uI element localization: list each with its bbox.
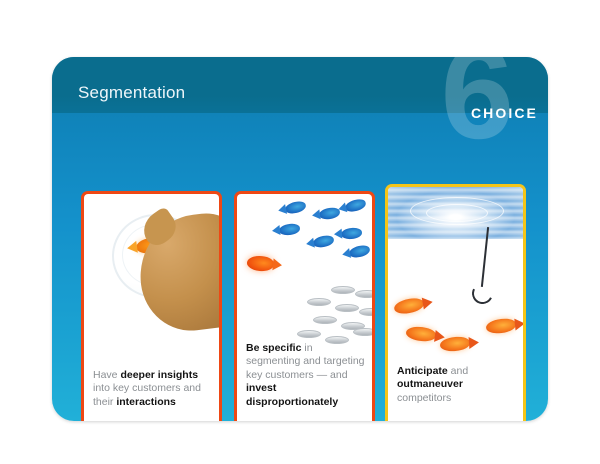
caption-segment-bold: Anticipate <box>397 365 448 377</box>
caption-segment-bold: Be specific <box>246 342 301 354</box>
caption-segment: and <box>448 365 468 377</box>
panel-insights-caption: Have deeper insights into key customers … <box>93 369 212 409</box>
caption-segment-bold: deeper insights <box>120 369 198 381</box>
school-of-fish-icon <box>237 194 372 344</box>
panel-competitors-caption: Anticipate and outmaneuver competitors <box>397 365 516 405</box>
caption-segment-bold: invest disproportionately <box>246 382 338 407</box>
panel-insights[interactable]: Have deeper insights into key customers … <box>81 191 222 421</box>
caption-segment-bold: outmaneuver <box>397 378 463 390</box>
panel-targeting-caption: Be specific in segmenting and targeting … <box>246 342 365 409</box>
slide-card: 6 Segmentation CHOICE Have deeper insigh… <box>52 57 548 421</box>
caption-segment: Have <box>93 369 120 381</box>
goldfish-bowl-with-cat-icon <box>84 194 219 364</box>
category-label: CHOICE <box>471 105 538 121</box>
fishing-hook-with-goldfish-icon <box>388 187 523 367</box>
panel-targeting[interactable]: Be specific in segmenting and targeting … <box>234 191 375 421</box>
page-title: Segmentation <box>78 83 185 103</box>
caption-segment-bold: interactions <box>116 396 176 408</box>
caption-segment: competitors <box>397 392 451 404</box>
panel-competitors[interactable]: Anticipate and outmaneuver competitors <box>385 184 526 421</box>
